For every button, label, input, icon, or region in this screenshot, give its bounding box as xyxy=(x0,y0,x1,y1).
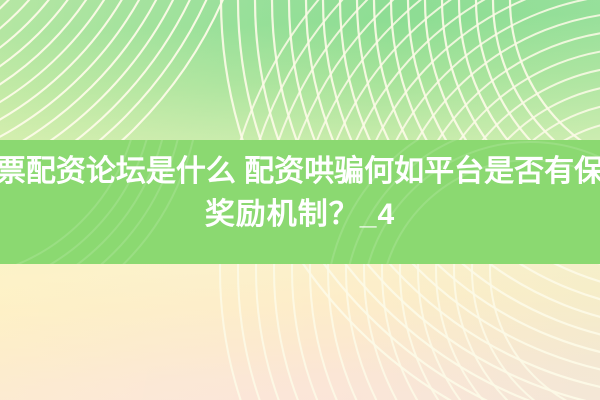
article-title-banner: 股票配资论坛是什么 配资哄骗何如平台是否有保举 奖励机制？_4 xyxy=(0,0,600,400)
page-title-line-1: 股票配资论坛是什么 配资哄骗何如平台是否有保举 xyxy=(0,150,600,193)
page-title: 股票配资论坛是什么 配资哄骗何如平台是否有保举 奖励机制？_4 xyxy=(0,150,600,260)
page-title-line-2: 奖励机制？_4 xyxy=(205,193,395,236)
